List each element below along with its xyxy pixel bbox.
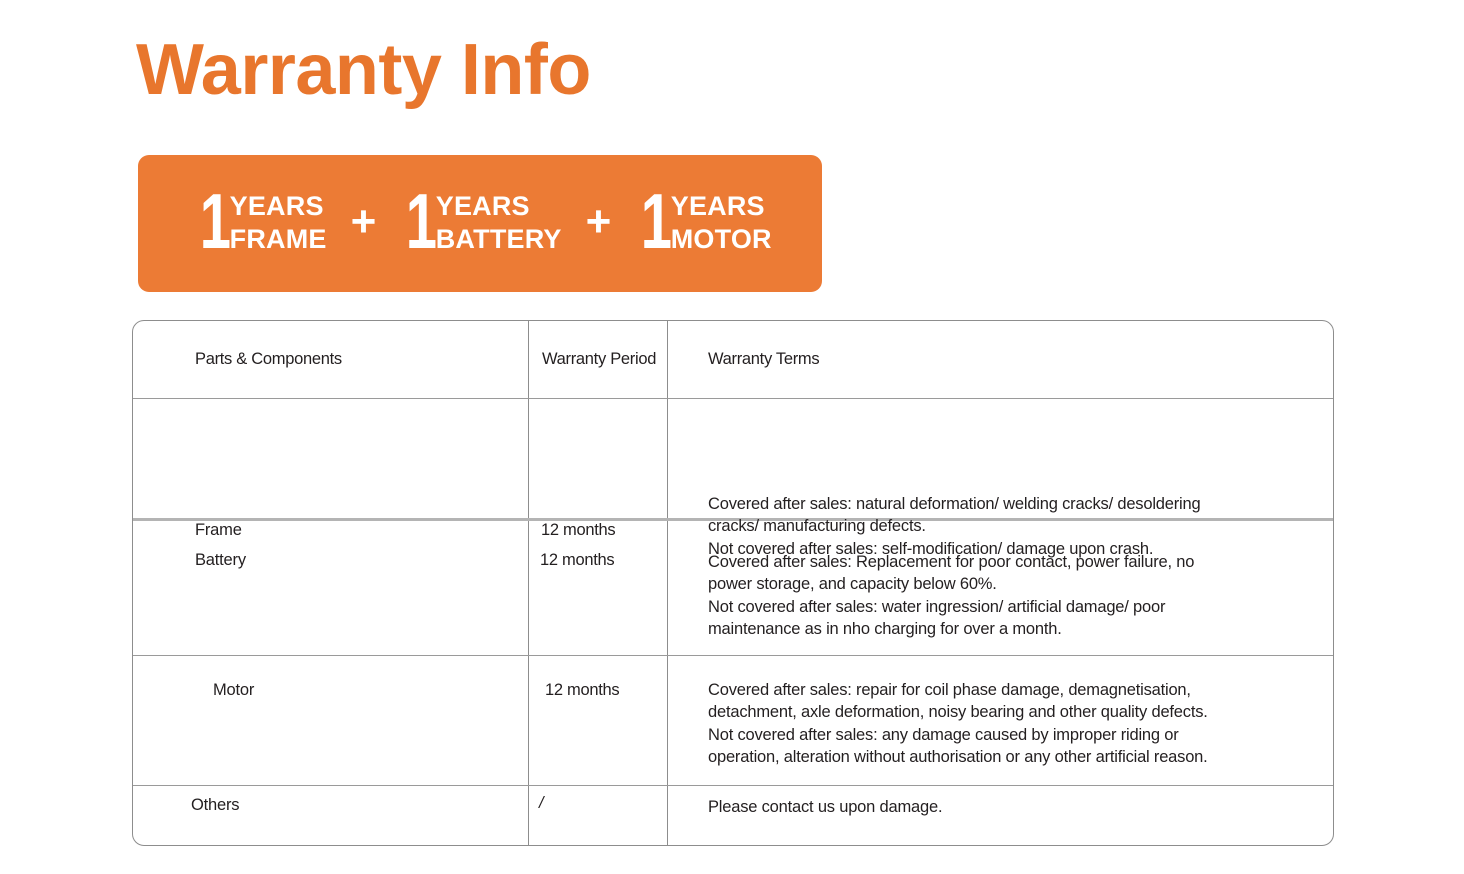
warranty-summary-banner: 1 YEARS FRAME + 1 YEARS BATTERY + 1 YEAR… (138, 155, 822, 292)
period-label-battery: 12 months (540, 551, 614, 570)
table-cell-period-others: / (529, 786, 668, 845)
table-header-terms-label: Warranty Terms (668, 350, 819, 369)
period-label-motor: 12 months (545, 681, 619, 700)
table-row: Battery 12 months Covered after sales: R… (133, 518, 1333, 655)
terms-text-others: Please contact us upon damage. (668, 786, 1333, 818)
warranty-badge-motor: 1 YEARS MOTOR (635, 190, 771, 258)
table-cell-terms-battery: Covered after sales: Replacement for poo… (668, 521, 1333, 655)
table-cell-terms-frame: Covered after sales: natural deformation… (668, 399, 1333, 518)
terms-line: maintenance as in nho charging for over … (708, 618, 1333, 640)
terms-line: Covered after sales: repair for coil pha… (708, 679, 1333, 701)
terms-line: power storage, and capacity below 60%. (708, 573, 1333, 595)
table-header-cell-terms: Warranty Terms (668, 321, 1333, 398)
table-cell-part-others: Others (133, 786, 529, 845)
terms-line: detachment, axle deformation, noisy bear… (708, 701, 1333, 723)
warranty-badge-motor-years: 1 (641, 190, 671, 258)
warranty-badge-motor-text: YEARS MOTOR (671, 190, 772, 258)
part-label-battery: Battery (195, 551, 246, 570)
warranty-badge-frame-text: YEARS FRAME (230, 190, 327, 258)
warranty-badge-motor-unit: YEARS (671, 190, 772, 224)
terms-line: Not covered after sales: any damage caus… (708, 724, 1333, 746)
warranty-badge-frame-years: 1 (200, 190, 230, 258)
table-cell-period-motor: 12 months (529, 656, 668, 785)
terms-text-motor: Covered after sales: repair for coil pha… (668, 656, 1333, 768)
plus-separator-1: + (351, 200, 377, 248)
table-header-period-label: Warranty Period (529, 350, 656, 369)
period-label-others: / (539, 794, 543, 813)
warranty-badge-battery-years: 1 (406, 190, 436, 258)
terms-line: operation, alteration without authorisat… (708, 746, 1333, 768)
table-cell-period-frame: 12 months (529, 399, 668, 518)
table-cell-part-battery: Battery (133, 521, 529, 655)
part-label-others: Others (191, 796, 239, 815)
terms-line: Please contact us upon damage. (708, 796, 1333, 818)
table-cell-period-battery: 12 months (529, 521, 668, 655)
page-title: Warranty Info (136, 34, 591, 106)
warranty-badge-battery-text: YEARS BATTERY (436, 190, 562, 258)
table-cell-terms-motor: Covered after sales: repair for coil pha… (668, 656, 1333, 785)
table-header-parts-label: Parts & Components (133, 350, 342, 369)
warranty-badge-battery: 1 YEARS BATTERY (400, 190, 561, 258)
table-row: Others / Please contact us upon damage. (133, 785, 1333, 845)
table-cell-part-motor: Motor (133, 656, 529, 785)
table-row: Motor 12 months Covered after sales: rep… (133, 655, 1333, 785)
warranty-badge-battery-unit: YEARS (436, 190, 562, 224)
warranty-table: Parts & Components Warranty Period Warra… (132, 320, 1334, 846)
table-cell-terms-others: Please contact us upon damage. (668, 786, 1333, 845)
table-header-cell-period: Warranty Period (529, 321, 668, 398)
warranty-badge-frame-unit: YEARS (230, 190, 327, 224)
warranty-badge-frame-part: FRAME (230, 223, 327, 257)
warranty-badge-frame: 1 YEARS FRAME (194, 190, 326, 258)
table-header-cell-parts: Parts & Components (133, 321, 529, 398)
terms-line: Covered after sales: natural deformation… (708, 493, 1333, 515)
part-label-motor: Motor (213, 681, 254, 700)
table-header-row: Parts & Components Warranty Period Warra… (133, 321, 1333, 398)
plus-separator-2: + (586, 200, 612, 248)
warranty-badge-motor-part: MOTOR (671, 223, 772, 257)
warranty-info-page: Warranty Info 1 YEARS FRAME + 1 YEARS BA… (0, 0, 1464, 874)
warranty-badge-battery-part: BATTERY (436, 223, 562, 257)
terms-line: Not covered after sales: water ingressio… (708, 596, 1333, 618)
terms-line: Covered after sales: Replacement for poo… (708, 551, 1333, 573)
table-cell-part-frame: Frame (133, 399, 529, 518)
terms-text-battery: Covered after sales: Replacement for poo… (668, 521, 1333, 640)
table-row: Frame 12 months Covered after sales: nat… (133, 398, 1333, 518)
